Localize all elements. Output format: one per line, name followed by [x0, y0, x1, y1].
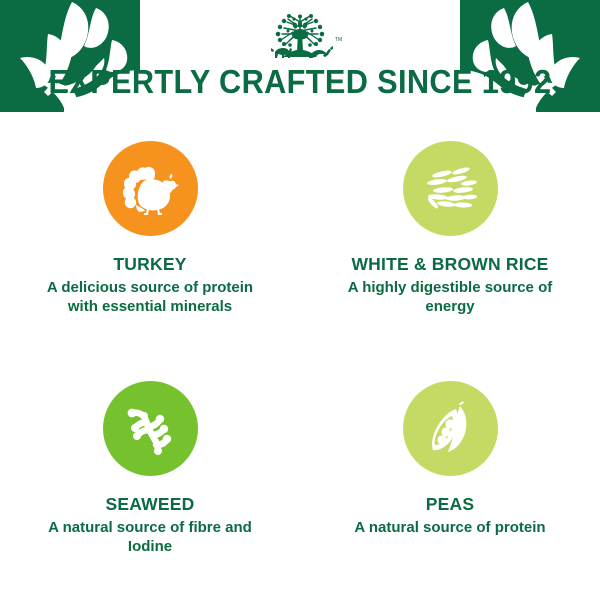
- page-title: EXPERTLY CRAFTED SINCE 1992: [21, 62, 579, 102]
- seaweed-icon-circle: [103, 381, 198, 476]
- ingredient-description: A delicious source of protein with essen…: [43, 278, 258, 316]
- ingredient-card-seaweed: SEAWEED A natural source of fibre and Io…: [0, 360, 300, 600]
- ingredient-title: PEAS: [426, 494, 474, 515]
- tree-with-paw-and-dogs-logo-icon: TM: [257, 14, 343, 64]
- ingredient-description: A natural source of fibre and Iodine: [43, 518, 258, 556]
- rice-icon-circle: [403, 141, 498, 236]
- ingredient-title: SEAWEED: [106, 494, 195, 515]
- rice-grains-icon: [418, 157, 482, 221]
- pea-pod-icon: [418, 397, 482, 461]
- infographic-page: TM EXPERTLY CRAFTED SINCE 1992: [0, 0, 600, 600]
- ingredient-card-peas: PEAS A natural source of protein: [300, 360, 600, 600]
- ingredient-card-turkey: TURKEY A delicious source of protein wit…: [0, 120, 300, 360]
- ingredient-description: A highly digestible source of energy: [343, 278, 558, 316]
- ingredient-description: A natural source of protein: [354, 518, 545, 537]
- ingredient-title: WHITE & BROWN RICE: [351, 254, 548, 275]
- ingredient-title: TURKEY: [113, 254, 186, 275]
- turkey-icon: [118, 157, 182, 221]
- header-banner: TM EXPERTLY CRAFTED SINCE 1992: [0, 0, 600, 120]
- ingredient-card-rice: WHITE & BROWN RICE A highly digestible s…: [300, 120, 600, 360]
- turkey-icon-circle: [103, 141, 198, 236]
- peas-icon-circle: [403, 381, 498, 476]
- svg-text:TM: TM: [335, 37, 342, 43]
- ingredients-grid: TURKEY A delicious source of protein wit…: [0, 120, 600, 600]
- seaweed-icon: [118, 397, 182, 461]
